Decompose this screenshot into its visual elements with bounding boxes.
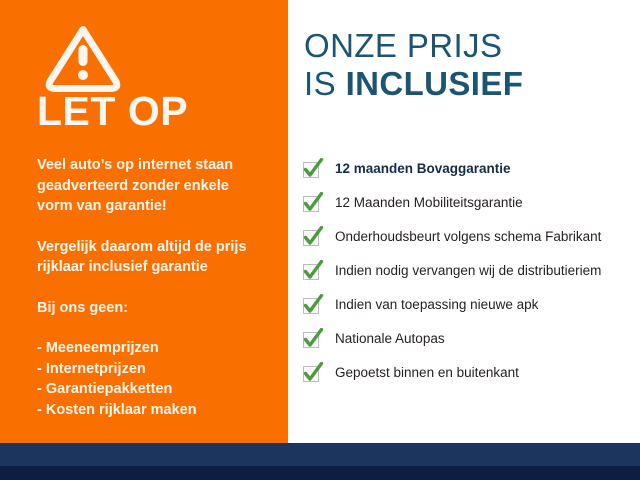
footer-bar-dark: [0, 466, 640, 480]
list-item: - Kosten rijklaar maken: [37, 400, 277, 421]
list-item-label: 12 Maanden Mobiliteitsgarantie: [335, 196, 523, 210]
check-mark-icon: [302, 158, 324, 180]
warning-panel: LET OP Veel auto’s op internet staan gea…: [0, 0, 288, 443]
list-item-label: Indien van toepassing nieuwe apk: [335, 298, 538, 312]
headline-line-2-light: IS: [304, 65, 346, 102]
headline-line-2: IS INCLUSIEF: [304, 65, 523, 103]
headline-line-1: ONZE PRIJS: [304, 27, 523, 65]
spacer: [37, 318, 277, 338]
spacer: [37, 217, 277, 237]
paragraph-2-line-1: Vergelijk daarom altijd de prijs: [37, 237, 277, 258]
headline: ONZE PRIJS IS INCLUSIEF: [304, 27, 523, 103]
promo-banner: LET OP Veel auto’s op internet staan gea…: [0, 0, 640, 480]
check-mark-icon: [302, 192, 324, 214]
paragraph-1-line-3: vorm van garantie!: [37, 196, 277, 217]
exclusions-list: - Meeneemprijzen - Internetprijzen - Gar…: [37, 338, 277, 420]
list-item: 12 maanden Bovaggarantie: [302, 152, 640, 186]
inclusive-panel: ONZE PRIJS IS INCLUSIEF 12 maanden Bovag…: [288, 0, 640, 443]
spacer: [37, 278, 277, 298]
list-item-label: Nationale Autopas: [335, 332, 445, 346]
paragraph-1-line-1: Veel auto’s op internet staan: [37, 155, 277, 176]
list-item: Gepoetst binnen en buitenkant: [302, 356, 640, 390]
paragraph-2-line-2: rijklaar inclusief garantie: [37, 257, 277, 278]
footer-bar-light: [0, 443, 640, 466]
exclusions-heading: Bij ons geen:: [37, 298, 277, 319]
paragraph-1-line-2: geadverteerd zonder enkele: [37, 176, 277, 197]
list-item-label: Gepoetst binnen en buitenkant: [335, 366, 519, 380]
check-mark-icon: [302, 294, 324, 316]
check-mark-icon: [302, 362, 324, 384]
warning-body-text: Veel auto’s op internet staan geadvertee…: [37, 155, 277, 420]
inclusions-list: 12 maanden Bovaggarantie 12 Maanden Mobi…: [302, 152, 640, 390]
headline-line-2-bold: INCLUSIEF: [346, 65, 524, 102]
list-item: 12 Maanden Mobiliteitsgarantie: [302, 186, 640, 220]
page-title: LET OP: [37, 91, 188, 132]
list-item: Indien nodig vervangen wij de distributi…: [302, 254, 640, 288]
check-mark-icon: [302, 328, 324, 350]
list-item: Nationale Autopas: [302, 322, 640, 356]
list-item: - Garantiepakketten: [37, 379, 277, 400]
warning-triangle-icon: [44, 23, 122, 93]
list-item: Indien van toepassing nieuwe apk: [302, 288, 640, 322]
list-item-label: Onderhoudsbeurt volgens schema Fabrikant: [335, 230, 601, 244]
check-mark-icon: [302, 260, 324, 282]
list-item: Onderhoudsbeurt volgens schema Fabrikant: [302, 220, 640, 254]
list-item-label: Indien nodig vervangen wij de distributi…: [335, 264, 601, 278]
list-item: - Meeneemprijzen: [37, 338, 277, 359]
check-mark-icon: [302, 226, 324, 248]
list-item-label: 12 maanden Bovaggarantie: [335, 162, 511, 176]
list-item: - Internetprijzen: [37, 359, 277, 380]
